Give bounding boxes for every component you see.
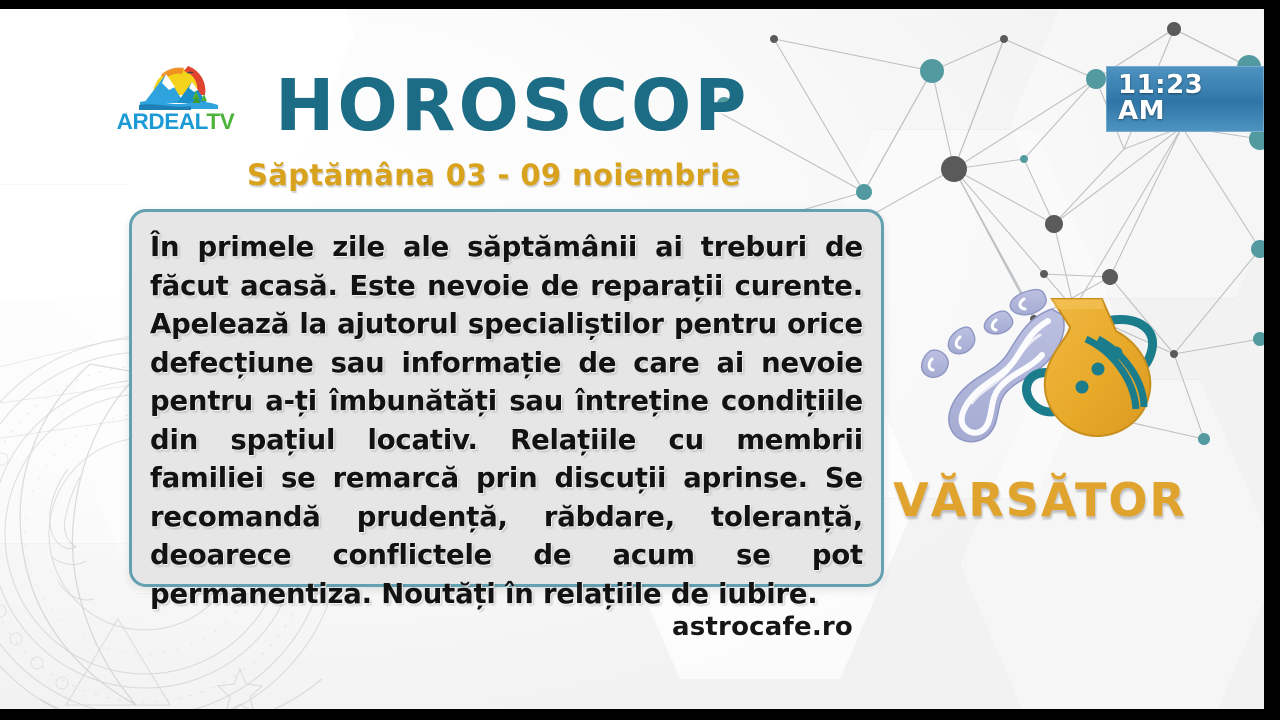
page-subtitle-week-range: Săptămâna 03 - 09 noiembrie	[247, 161, 741, 190]
letterbox-bar-top	[0, 0, 1280, 9]
ardeal-tv-mark-icon	[136, 59, 222, 111]
source-credit: astrocafe.ro	[672, 614, 853, 640]
zodiac-sign-name: VĂRSĂTOR	[880, 477, 1200, 523]
horoscope-text-panel: În primele zile ale săptămânii ai trebur…	[129, 209, 884, 587]
logo-word-tv: TV	[206, 109, 234, 134]
channel-logo-wordmark: ARDEALTV	[108, 111, 243, 134]
clock-display: 11:23 AM	[1106, 66, 1264, 132]
channel-logo: ARDEALTV	[108, 59, 243, 144]
broadcast-stage: ARDEALTV HOROSCOP Săptămâna 03 - 09 noie…	[0, 9, 1264, 709]
broadcast-screen: ARDEALTV HOROSCOP Săptămâna 03 - 09 noie…	[0, 0, 1280, 720]
letterbox-bar-bottom	[0, 709, 1280, 720]
logo-word-ardeal: ARDEAL	[117, 109, 207, 134]
horoscope-body-text: În primele zile ale săptămânii ai trebur…	[150, 228, 863, 613]
aquarius-zodiac-icon	[900, 277, 1190, 462]
letterbox-bar-right	[1264, 0, 1280, 720]
page-title: HOROSCOP	[275, 70, 749, 141]
